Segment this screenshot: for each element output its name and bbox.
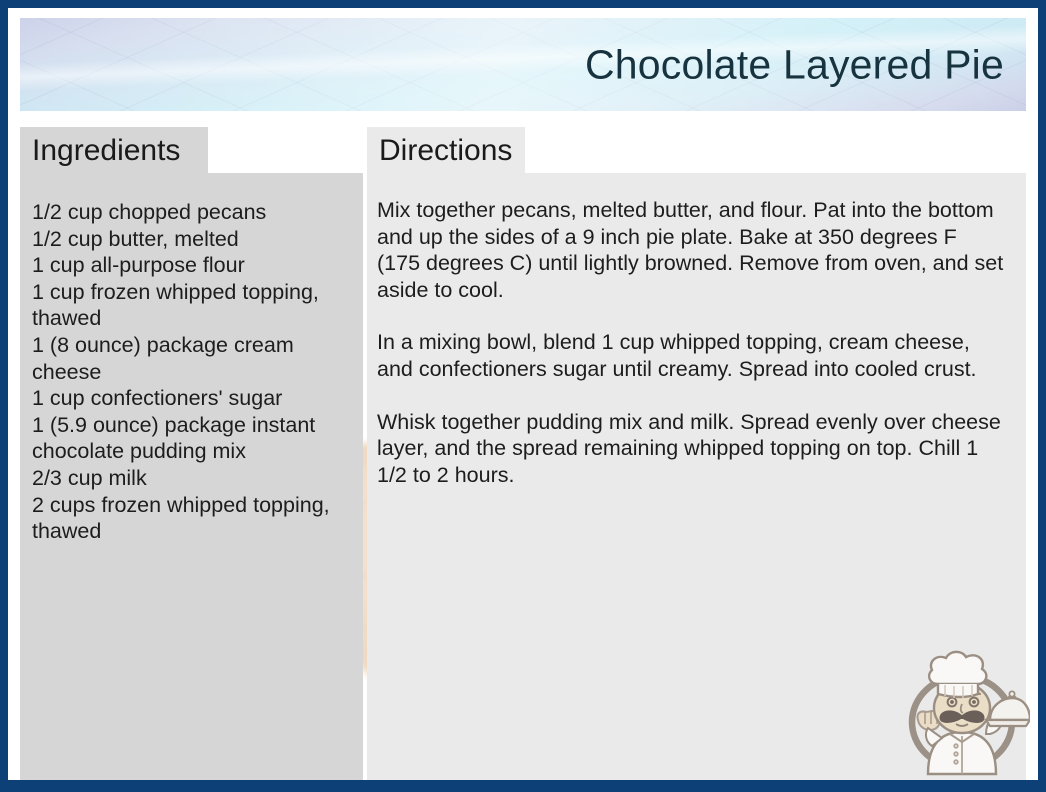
ingredient-list: 1/2 cup chopped pecans 1/2 cup butter, m… [32, 199, 347, 545]
list-item: 1 (5.9 ounce) package instant chocolate … [32, 412, 347, 465]
list-item: 2/3 cup milk [32, 465, 347, 492]
direction-step: Mix together pecans, melted butter, and … [377, 197, 1004, 303]
ingredients-heading: Ingredients [20, 127, 208, 173]
page-title: Chocolate Layered Pie [585, 41, 1004, 88]
list-item: 1/2 cup chopped pecans [32, 199, 347, 226]
directions-section: Directions Mix together pecans, melted b… [367, 127, 1026, 780]
direction-step: In a mixing bowl, blend 1 cup whipped to… [377, 329, 1004, 382]
ingredients-panel: 1/2 cup chopped pecans 1/2 cup butter, m… [20, 173, 363, 780]
recipe-card-page: Chocolate Layered Pie [8, 8, 1038, 780]
list-item: 1 (8 ounce) package cream cheese [32, 332, 347, 385]
directions-heading: Directions [367, 127, 525, 173]
list-item: 2 cups frozen whipped topping, thawed [32, 492, 347, 545]
list-item: 1 cup all-purpose flour [32, 252, 347, 279]
list-item: 1 cup frozen whipped topping, thawed [32, 279, 347, 332]
direction-step: Whisk together pudding mix and milk. Spr… [377, 409, 1004, 489]
list-item: 1 cup confectioners' sugar [32, 385, 347, 412]
header-banner: Chocolate Layered Pie [20, 18, 1026, 111]
directions-panel: Mix together pecans, melted butter, and … [367, 173, 1026, 780]
ingredients-section: Ingredients 1/2 cup chopped pecans 1/2 c… [20, 127, 363, 780]
list-item: 1/2 cup butter, melted [32, 226, 347, 253]
